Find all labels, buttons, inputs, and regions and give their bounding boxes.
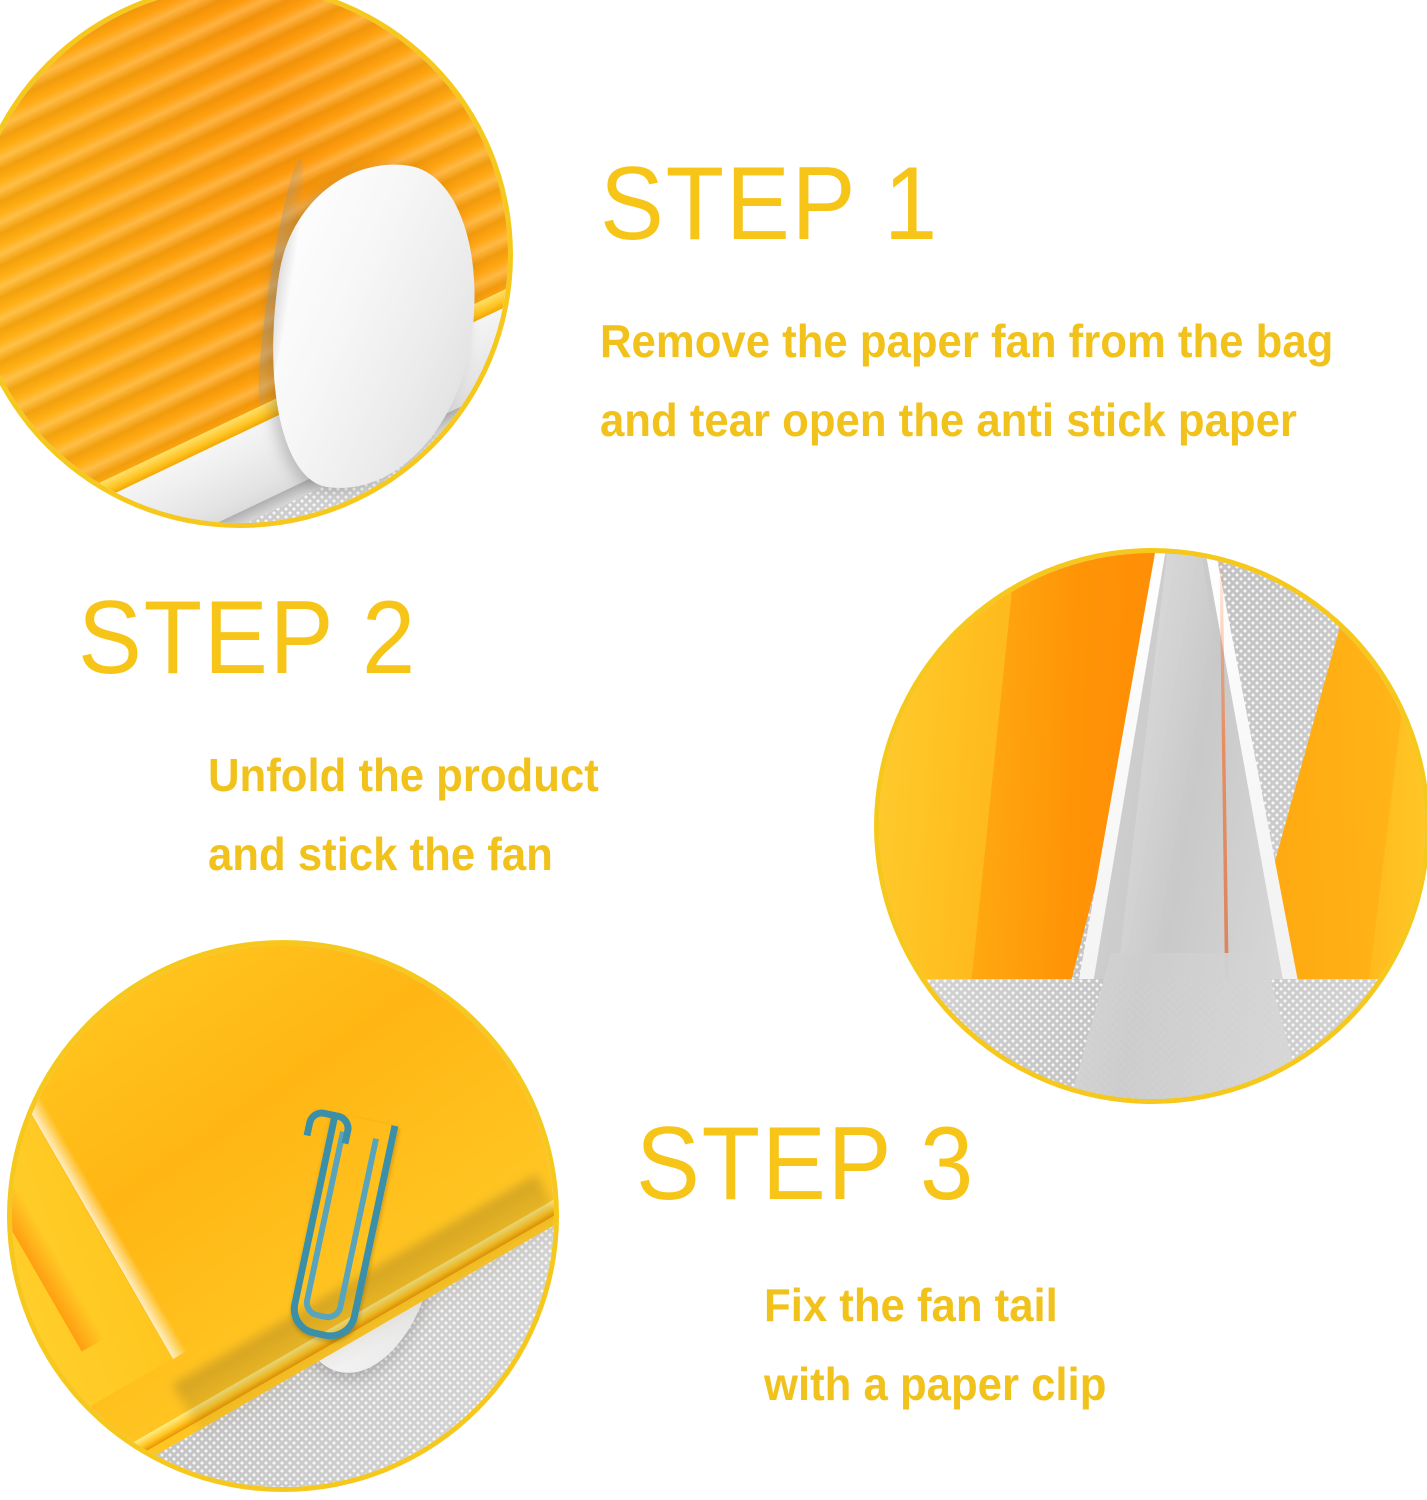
step-2-description-line-2: and stick the fan — [208, 815, 599, 894]
step-3-description-line-1: Fix the fan tail — [764, 1266, 1106, 1345]
step-3-photo — [12, 945, 554, 1487]
step-3-description: Fix the fan tail with a paper clip — [636, 1266, 1124, 1424]
step-1-heading: STEP 1 — [600, 152, 1310, 256]
step-2-description-line-1: Unfold the product — [208, 736, 599, 815]
instruction-poster: STEP 1 Remove the paper fan from the bag… — [0, 0, 1427, 1500]
step-1-text-block: STEP 1 Remove the paper fan from the bag… — [600, 152, 1372, 460]
step-2-photo-content — [879, 553, 1425, 1099]
step-3-text-block: STEP 3 Fix the fan tail with a paper cli… — [636, 1112, 1124, 1424]
step-2-photo — [879, 553, 1425, 1099]
step-1-description-line-2: and tear open the anti stick paper — [600, 381, 1333, 460]
step-3-photo-content — [12, 945, 554, 1487]
step-1-photo-content — [0, 0, 508, 523]
step-3-heading: STEP 3 — [636, 1112, 1085, 1216]
step-1-description-line-1: Remove the paper fan from the bag — [600, 302, 1333, 381]
step-1-photo — [0, 0, 508, 523]
step-3-description-line-2: with a paper clip — [764, 1345, 1106, 1424]
step-1-description: Remove the paper fan from the bag and te… — [600, 302, 1372, 460]
step-2-description: Unfold the product and stick the fan — [78, 736, 619, 894]
step-2-text-block: STEP 2 Unfold the product and stick the … — [78, 586, 619, 894]
step-2-heading: STEP 2 — [78, 586, 576, 690]
